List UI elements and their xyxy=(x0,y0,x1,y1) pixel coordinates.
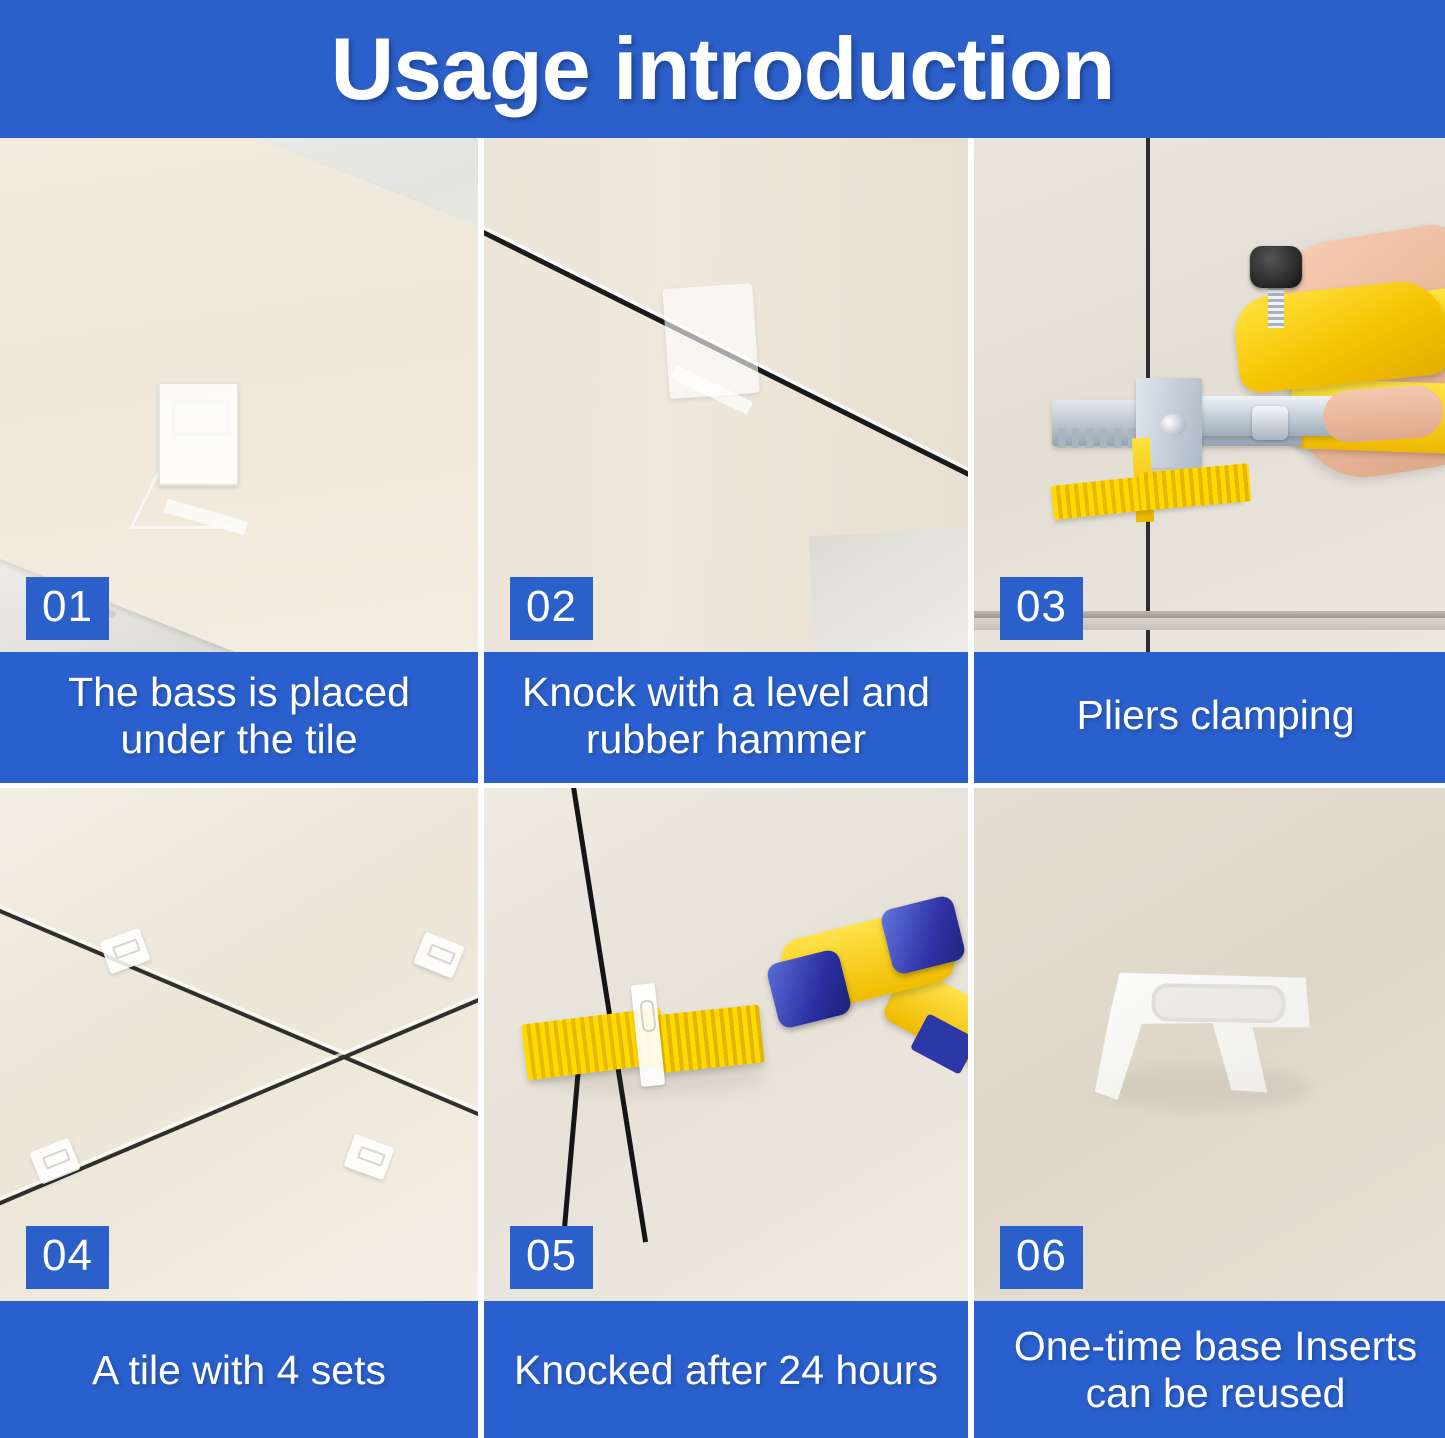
photo-artwork-04 xyxy=(0,788,478,1301)
step-caption-05: Knocked after 24 hours xyxy=(484,1301,968,1438)
step-badge-04: 04 xyxy=(26,1226,109,1289)
step-badge-03: 03 xyxy=(1000,577,1083,640)
adjustment-knob xyxy=(1250,246,1302,288)
clip-slot xyxy=(1151,983,1286,1023)
tile-surface xyxy=(0,788,478,1301)
step-photo-05: 05 xyxy=(484,788,968,1301)
step-photo-02: 02 xyxy=(484,138,968,652)
step-badge-01: 01 xyxy=(26,577,109,640)
photo-artwork-01 xyxy=(0,138,478,652)
tile-corner xyxy=(809,528,968,652)
photo-artwork-02 xyxy=(484,138,968,652)
step-badge-06: 06 xyxy=(1000,1226,1083,1289)
photo-artwork-03 xyxy=(974,138,1445,652)
step-caption-06: One-time base Inserts can be reused xyxy=(974,1301,1445,1438)
step-card-04: 04 A tile with 4 sets xyxy=(0,788,478,1438)
poster-header: Usage introduction xyxy=(0,0,1445,138)
one-time-base-clip xyxy=(1085,957,1316,1108)
step-photo-03: 03 xyxy=(974,138,1445,652)
step-photo-04: 04 xyxy=(0,788,478,1301)
adjustment-screw xyxy=(1268,284,1284,328)
step-caption-03: Pliers clamping xyxy=(974,652,1445,783)
pliers-pin xyxy=(1160,414,1186,436)
pliers-hex-bolt xyxy=(1252,406,1288,440)
step-photo-06: 06 xyxy=(974,788,1445,1301)
tile-face xyxy=(0,138,478,652)
step-badge-05: 05 xyxy=(510,1226,593,1289)
steps-grid: 01 The bass is placed under the tile 02 … xyxy=(0,138,1445,1438)
step-badge-02: 02 xyxy=(510,577,593,640)
step-caption-01: The bass is placed under the tile xyxy=(0,652,478,783)
photo-artwork-05 xyxy=(484,788,968,1301)
step-caption-04: A tile with 4 sets xyxy=(0,1301,478,1438)
poster-title: Usage introduction xyxy=(331,25,1115,113)
leveling-clip-slot xyxy=(172,400,230,436)
clip-body xyxy=(1085,957,1316,1108)
step-card-02: 02 Knock with a level and rubber hammer xyxy=(484,138,968,783)
step-card-03: 03 Pliers clamping xyxy=(974,138,1445,783)
usage-introduction-poster: Usage introduction 01 T xyxy=(0,0,1445,1438)
step-photo-01: 01 xyxy=(0,138,478,652)
thumb xyxy=(1321,384,1444,444)
step-card-01: 01 The bass is placed under the tile xyxy=(0,138,478,783)
photo-artwork-06 xyxy=(974,788,1445,1301)
step-caption-02: Knock with a level and rubber hammer xyxy=(484,652,968,783)
yellow-wedge-right xyxy=(651,1005,764,1074)
step-card-06: 06 One-time base Inserts can be reused xyxy=(974,788,1445,1438)
step-card-05: 05 Knocked after 24 hours xyxy=(484,788,968,1438)
